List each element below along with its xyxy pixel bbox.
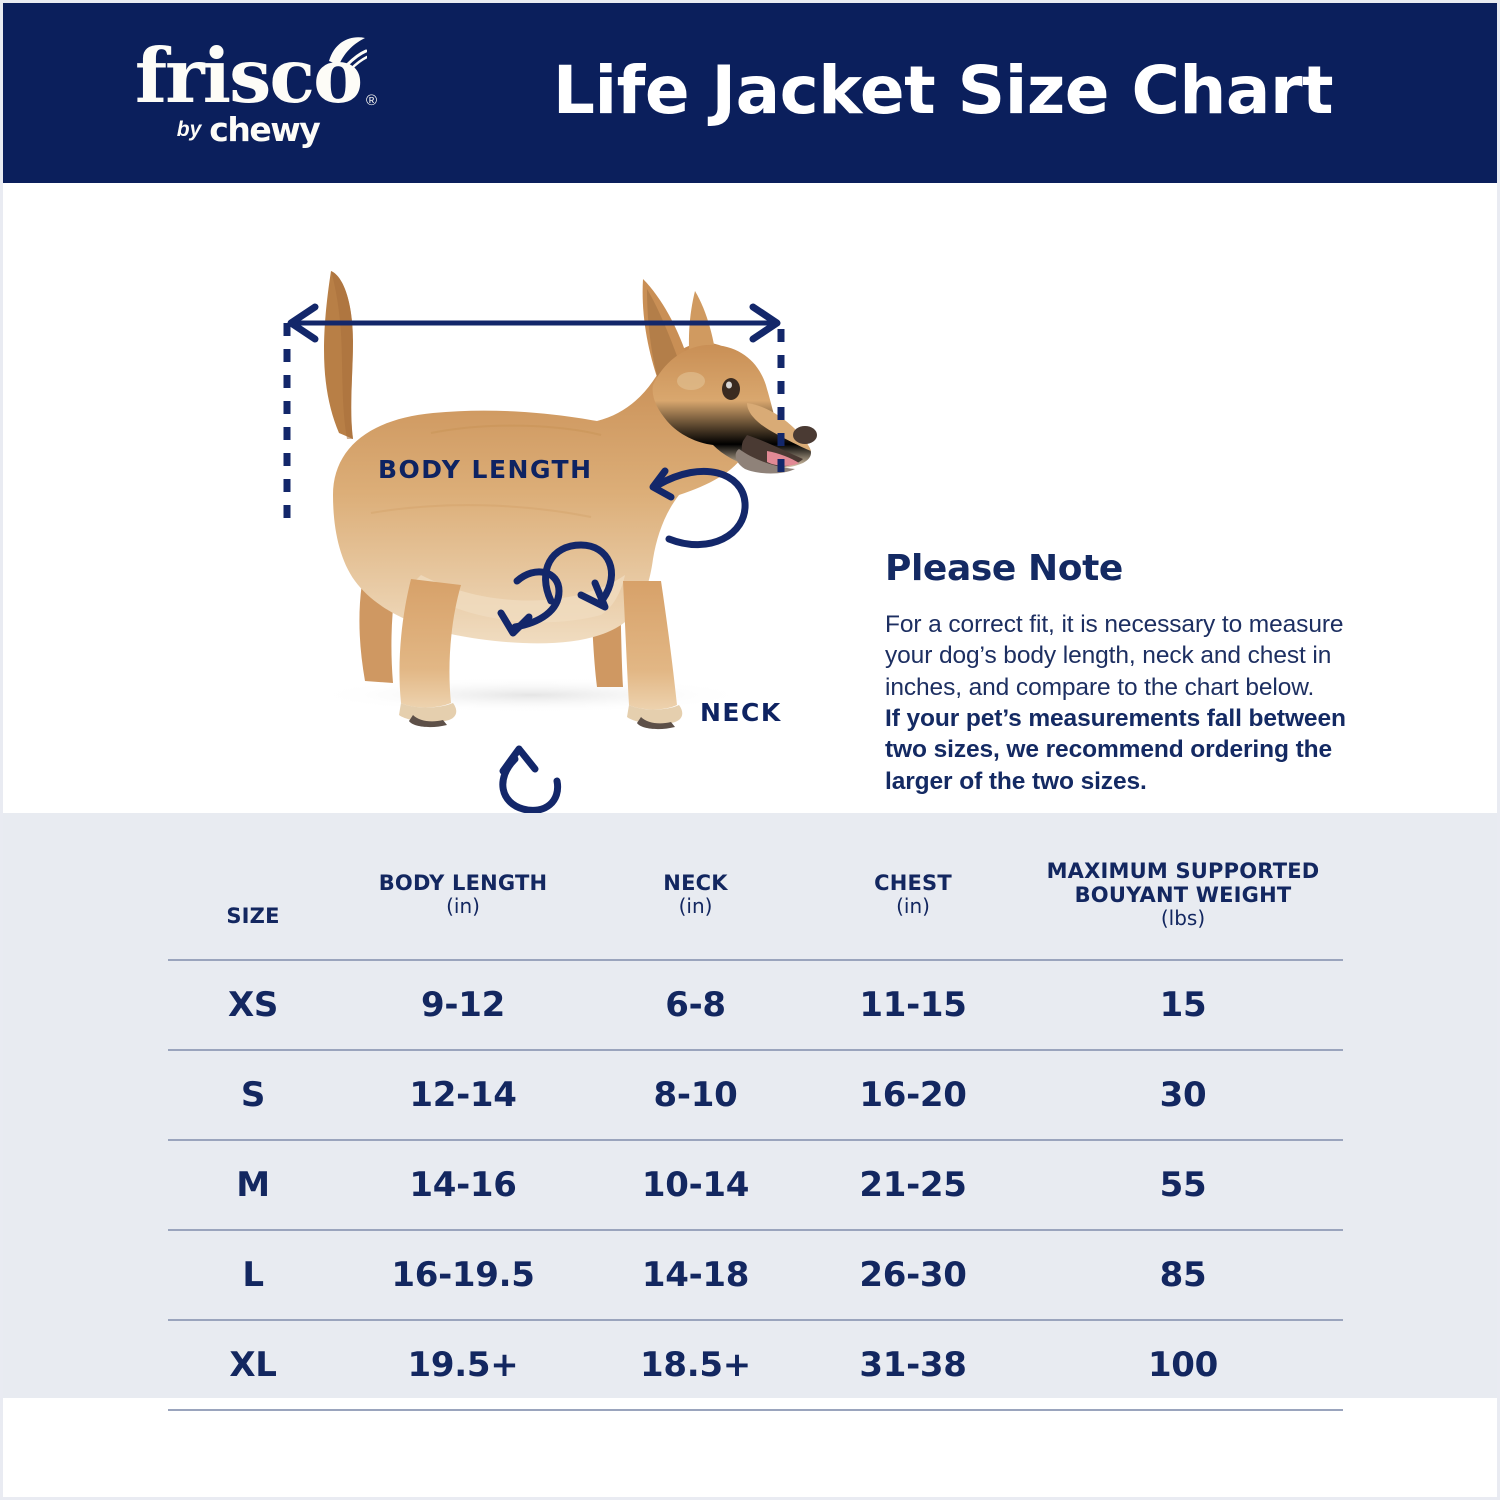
column-header-body-length: BODY LENGTH (in) [338, 838, 588, 960]
neck-label: NECK [700, 698, 782, 727]
cell-body-length: 14-16 [338, 1140, 588, 1230]
cell-size: M [168, 1140, 338, 1230]
column-header-size: SIZE [168, 838, 338, 960]
column-header-body-length-unit: (in) [342, 895, 584, 917]
please-note-paragraph-bold: If your pet’s measurements fall between … [885, 703, 1355, 797]
cell-max-weight: 30 [1023, 1050, 1343, 1140]
dog-photo [261, 263, 821, 733]
cell-chest: 31-38 [803, 1320, 1023, 1410]
cell-neck: 14-18 [588, 1230, 803, 1320]
column-header-max-weight-label: MAXIMUM SUPPORTED BOUYANT WEIGHT [1047, 859, 1320, 907]
page-header: frisco ® by chewy Life Jacket Size Chart [3, 3, 1497, 183]
cell-neck: 10-14 [588, 1140, 803, 1230]
cell-max-weight: 55 [1023, 1140, 1343, 1230]
page-title: Life Jacket Size Chart [473, 55, 1413, 128]
cell-neck: 8-10 [588, 1050, 803, 1140]
please-note-paragraph: For a correct fit, it is necessary to me… [885, 609, 1355, 703]
column-header-chest: CHEST (in) [803, 838, 1023, 960]
table-row: M 14-16 10-14 21-25 55 [168, 1140, 1343, 1230]
cell-body-length: 16-19.5 [338, 1230, 588, 1320]
table-row: XS 9-12 6-8 11-15 15 [168, 960, 1343, 1050]
frisco-wordmark: frisco ® [135, 39, 361, 114]
measurement-diagram-panel: BODY LENGTH NECK CHEST Please Note For a… [3, 183, 1497, 813]
cell-max-weight: 85 [1023, 1230, 1343, 1320]
please-note-heading: Please Note [885, 548, 1355, 589]
column-header-chest-unit: (in) [807, 895, 1019, 917]
column-header-body-length-label: BODY LENGTH [379, 871, 548, 895]
please-note-block: Please Note For a correct fit, it is nec… [885, 548, 1355, 797]
cell-chest: 11-15 [803, 960, 1023, 1050]
cell-max-weight: 100 [1023, 1320, 1343, 1410]
column-header-chest-label: CHEST [874, 871, 952, 895]
column-header-max-weight-unit: (lbs) [1027, 907, 1339, 929]
column-header-neck: NECK (in) [588, 838, 803, 960]
chest-arrow [503, 749, 558, 810]
table-row: L 16-19.5 14-18 26-30 85 [168, 1230, 1343, 1320]
cell-size: L [168, 1230, 338, 1320]
cell-size: XS [168, 960, 338, 1050]
swoosh-icon [325, 35, 367, 71]
size-chart-page: frisco ® by chewy Life Jacket Size Chart [0, 0, 1500, 1500]
cell-chest: 21-25 [803, 1140, 1023, 1230]
column-header-neck-label: NECK [663, 871, 727, 895]
table-row: XL 19.5+ 18.5+ 31-38 100 [168, 1320, 1343, 1410]
cell-neck: 6-8 [588, 960, 803, 1050]
registered-trademark-icon: ® [366, 93, 377, 108]
cell-body-length: 12-14 [338, 1050, 588, 1140]
column-header-max-weight: MAXIMUM SUPPORTED BOUYANT WEIGHT (lbs) [1023, 838, 1343, 960]
cell-body-length: 19.5+ [338, 1320, 588, 1410]
cell-chest: 16-20 [803, 1050, 1023, 1140]
cell-neck: 18.5+ [588, 1320, 803, 1410]
cell-size: XL [168, 1320, 338, 1410]
cell-chest: 26-30 [803, 1230, 1023, 1320]
table-row: S 12-14 8-10 16-20 30 [168, 1050, 1343, 1140]
cell-max-weight: 15 [1023, 960, 1343, 1050]
size-chart-table: SIZE BODY LENGTH (in) NECK (in) CHEST (i… [168, 838, 1343, 1411]
frisco-by-chewy-logo: frisco ® by chewy [83, 39, 413, 164]
table-header-row: SIZE BODY LENGTH (in) NECK (in) CHEST (i… [168, 838, 1343, 960]
size-table-section: SIZE BODY LENGTH (in) NECK (in) CHEST (i… [3, 813, 1497, 1398]
cell-size: S [168, 1050, 338, 1140]
cell-body-length: 9-12 [338, 960, 588, 1050]
dog-illustration [261, 263, 821, 733]
body-length-label: BODY LENGTH [378, 455, 593, 484]
column-header-size-label: SIZE [226, 904, 279, 928]
column-header-neck-unit: (in) [592, 895, 799, 917]
logo-by-text: by [177, 118, 202, 142]
